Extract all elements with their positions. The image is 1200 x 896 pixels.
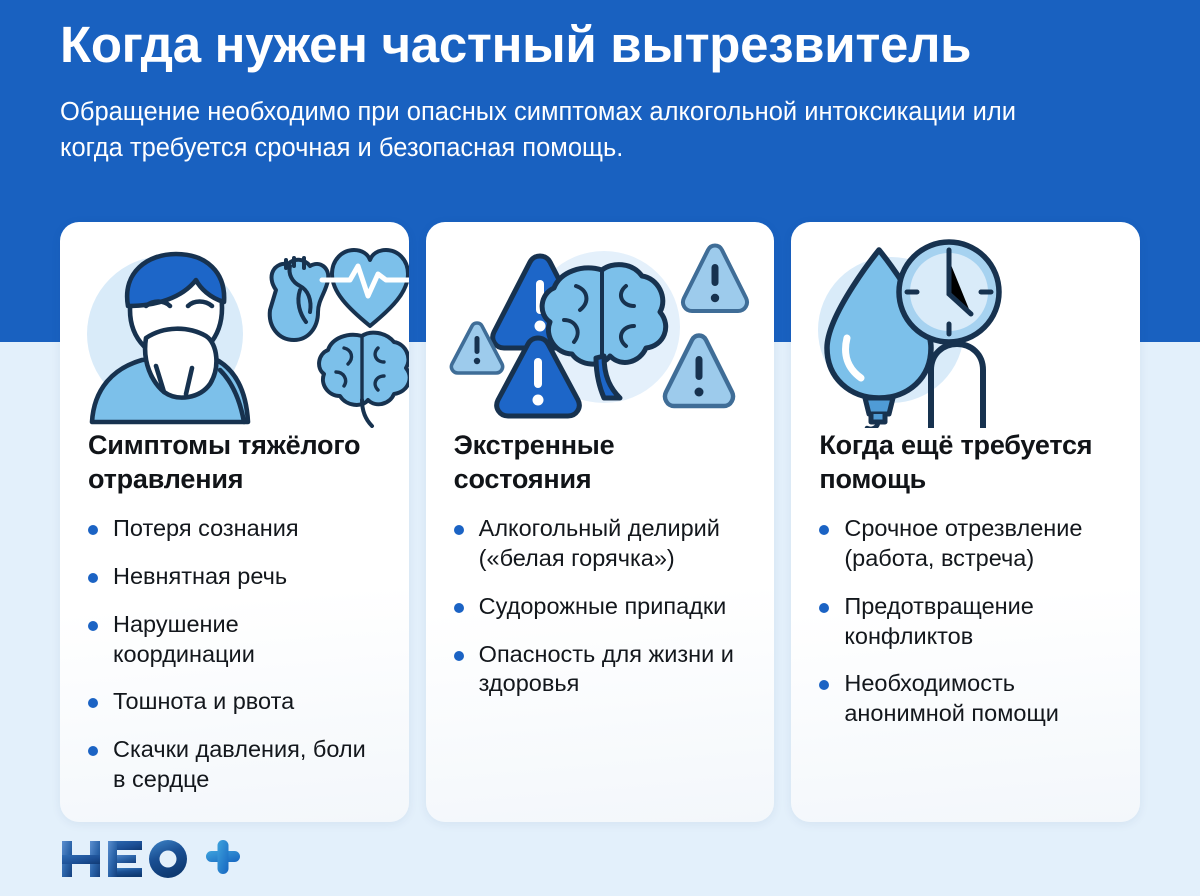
- card-title: Когда ещё требуется помощь: [819, 428, 1114, 496]
- list-item: Предотвращение конфликтов: [819, 592, 1114, 652]
- list-item: Невнятная речь: [88, 562, 383, 592]
- illustration-sick-person-heart-brain: [60, 222, 409, 428]
- list-item: Нарушение координации: [88, 610, 383, 670]
- list-item: Алкогольный делирий («белая горячка»): [454, 514, 749, 574]
- card-other-help-cases: Когда ещё требуется помощь Срочное отрез…: [791, 222, 1140, 822]
- card-body-severe-poisoning: Симптомы тяжёлого отравления Потеря созн…: [60, 428, 409, 822]
- card-body-other-help-cases: Когда ещё требуется помощь Срочное отрез…: [791, 428, 1140, 822]
- neo-plus-logo: [60, 838, 240, 880]
- card-emergency-states: Экстренные состояния Алкогольный делирий…: [426, 222, 775, 822]
- illustration-iv-drip-clock: [791, 222, 1140, 428]
- header-content: Когда нужен частный вытрезвитель Обращен…: [60, 16, 1150, 167]
- card-title: Экстренные состояния: [454, 428, 749, 496]
- logo-letter-o: [149, 840, 187, 878]
- illustration-brain-with-warning-triangles: [426, 222, 775, 428]
- page-subtitle: Обращение необходимо при опасных симптом…: [60, 94, 1070, 166]
- warning-triangle-icon: [683, 246, 747, 312]
- cards-row: Симптомы тяжёлого отравления Потеря созн…: [60, 222, 1140, 822]
- list-item: Тошнота и рвота: [88, 687, 383, 717]
- list-item: Необходимость анонимной помощи: [819, 669, 1114, 729]
- card-body-emergency-states: Экстренные состояния Алкогольный делирий…: [426, 428, 775, 822]
- card-title: Симптомы тяжёлого отравления: [88, 428, 383, 496]
- bullet-list-emergency-states: Алкогольный делирий («белая горячка») Су…: [454, 514, 749, 699]
- list-item: Скачки давления, боли в сердце: [88, 735, 383, 795]
- logo-plus-icon: [206, 840, 240, 874]
- list-item: Опасность для жизни и здоровья: [454, 640, 749, 700]
- list-item: Судорожные припадки: [454, 592, 749, 622]
- clock-icon: [899, 242, 999, 342]
- bullet-list-other-help-cases: Срочное отрезвление (работа, встреча) Пр…: [819, 514, 1114, 729]
- list-item: Потеря сознания: [88, 514, 383, 544]
- infographic-page: Когда нужен частный вытрезвитель Обращен…: [0, 0, 1200, 896]
- card-severe-poisoning: Симптомы тяжёлого отравления Потеря созн…: [60, 222, 409, 822]
- bullet-list-severe-poisoning: Потеря сознания Невнятная речь Нарушение…: [88, 514, 383, 795]
- list-item: Срочное отрезвление (работа, встреча): [819, 514, 1114, 574]
- logo-letter-n: [62, 841, 100, 877]
- logo-letter-e: [108, 841, 142, 877]
- page-title: Когда нужен частный вытрезвитель: [60, 16, 1150, 73]
